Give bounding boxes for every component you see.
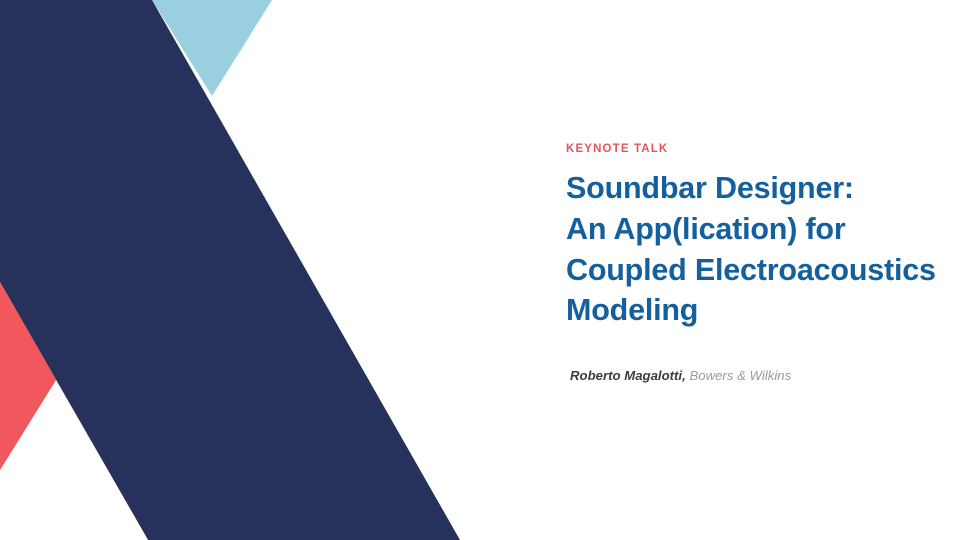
title-line-2: An App(lication) for — [566, 209, 952, 250]
title-slide: KEYNOTE TALK Soundbar Designer: An App(l… — [0, 0, 960, 540]
author-affiliation: Bowers & Wilkins — [689, 368, 791, 383]
page-title: Soundbar Designer: An App(lication) for … — [566, 168, 952, 331]
title-line-1: Soundbar Designer: — [566, 168, 952, 209]
title-line-4: Modeling — [566, 290, 952, 331]
author-name: Roberto Magalotti, — [570, 368, 686, 383]
author-byline: Roberto Magalotti, Bowers & Wilkins — [570, 367, 952, 384]
slide-text-block: KEYNOTE TALK Soundbar Designer: An App(l… — [566, 143, 952, 384]
title-line-3: Coupled Electroacoustics — [566, 250, 952, 291]
session-type-label: KEYNOTE TALK — [566, 143, 952, 157]
